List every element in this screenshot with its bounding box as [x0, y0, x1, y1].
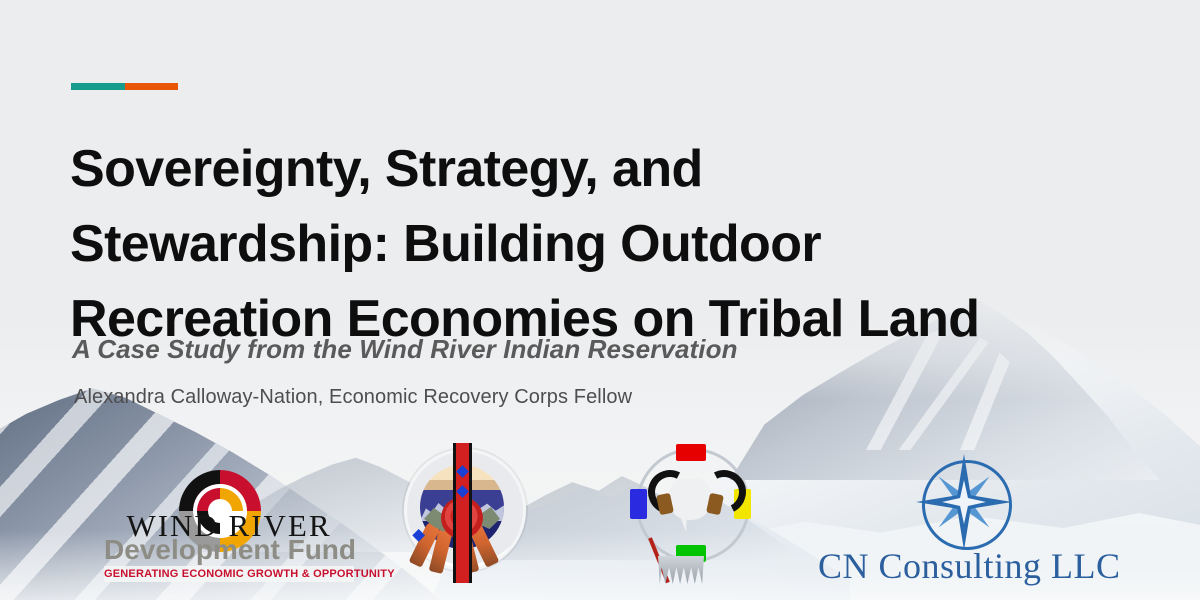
- page-title: Sovereignty, Strategy, and Stewardship: …: [70, 132, 1200, 357]
- author-byline: Alexandra Calloway-Nation, Economic Reco…: [74, 386, 632, 409]
- compass-rose-icon: [916, 454, 1012, 550]
- wrdf-name-line-2: Development Fund: [104, 536, 354, 564]
- accent-rule-orange-segment: [125, 83, 178, 90]
- cn-consulting-wordmark: CN Consulting LLC: [818, 548, 1118, 584]
- title-slide: Sovereignty, Strategy, and Stewardship: …: [0, 0, 1200, 600]
- logo-cn-consulting-llc: CN Consulting LLC: [818, 460, 1118, 588]
- page-title-line-2: Stewardship: Building Outdoor: [70, 207, 1200, 282]
- direction-color-west: [630, 489, 647, 519]
- accent-rule-teal-segment: [71, 83, 125, 90]
- page-title-line-1: Sovereignty, Strategy, and: [70, 132, 1200, 207]
- accent-rule: [71, 83, 178, 90]
- direction-color-north: [676, 444, 706, 461]
- logo-eastern-shoshone-tribe-seal: [396, 443, 528, 583]
- beaded-band-icon: [453, 443, 472, 583]
- logo-wind-river-development-fund: WIND RIVER Development Fund GENERATING E…: [104, 472, 354, 588]
- page-subtitle: A Case Study from the Wind River Indian …: [72, 334, 738, 365]
- wrdf-tagline: GENERATING ECONOMIC GROWTH & OPPORTUNITY: [104, 566, 354, 582]
- logo-northern-arapaho-tribe-seal: [624, 444, 756, 584]
- feather-fringe-icon: [658, 556, 704, 584]
